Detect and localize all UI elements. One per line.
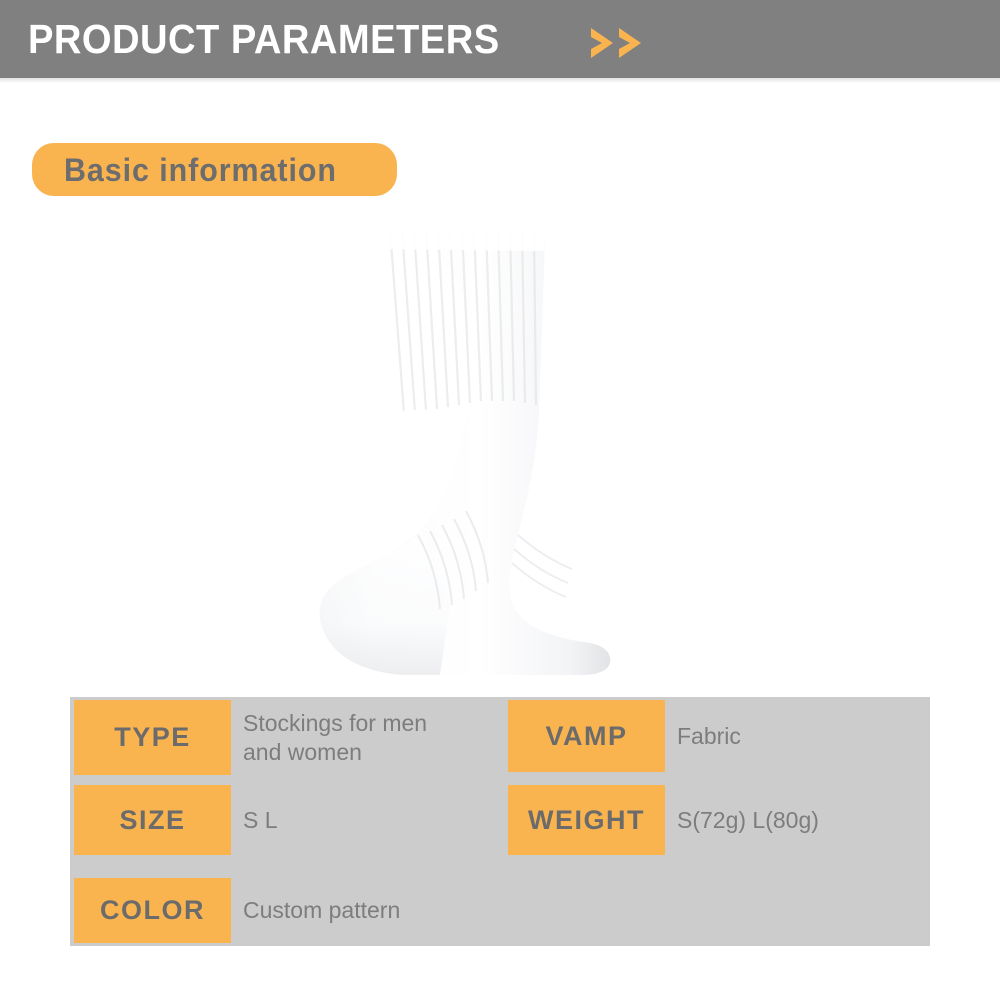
section-title-badge: Basic information — [32, 143, 397, 196]
spec-value-vamp: Fabric — [665, 722, 741, 750]
header-bar: PRODUCT PARAMETERS — [0, 0, 1000, 78]
section-title-label: Basic information — [64, 154, 337, 186]
spec-value-type: Stockings for men and women — [231, 709, 427, 765]
spec-label-color: COLOR — [74, 878, 231, 943]
spec-label-type: TYPE — [74, 700, 231, 775]
double-chevron-right-icon — [589, 26, 643, 60]
spec-label-vamp: VAMP — [508, 700, 665, 772]
table-row: TYPE Stockings for men and women — [74, 700, 427, 775]
product-parameters-page: PRODUCT PARAMETERS Basic information — [0, 0, 1000, 987]
table-row: VAMP Fabric — [508, 700, 741, 772]
table-row: COLOR Custom pattern — [74, 878, 400, 943]
spec-label-size: SIZE — [74, 785, 231, 855]
table-row: SIZE S L — [74, 785, 278, 855]
spec-value-weight: S(72g) L(80g) — [665, 806, 819, 834]
spec-value-size: S L — [231, 806, 278, 834]
page-title: PRODUCT PARAMETERS — [28, 19, 500, 60]
spec-value-color: Custom pattern — [231, 896, 400, 924]
spec-label-weight: WEIGHT — [508, 785, 665, 855]
table-row: WEIGHT S(72g) L(80g) — [508, 785, 819, 855]
product-photo-sock — [290, 205, 670, 675]
specification-table: TYPE Stockings for men and women VAMP Fa… — [70, 697, 930, 946]
